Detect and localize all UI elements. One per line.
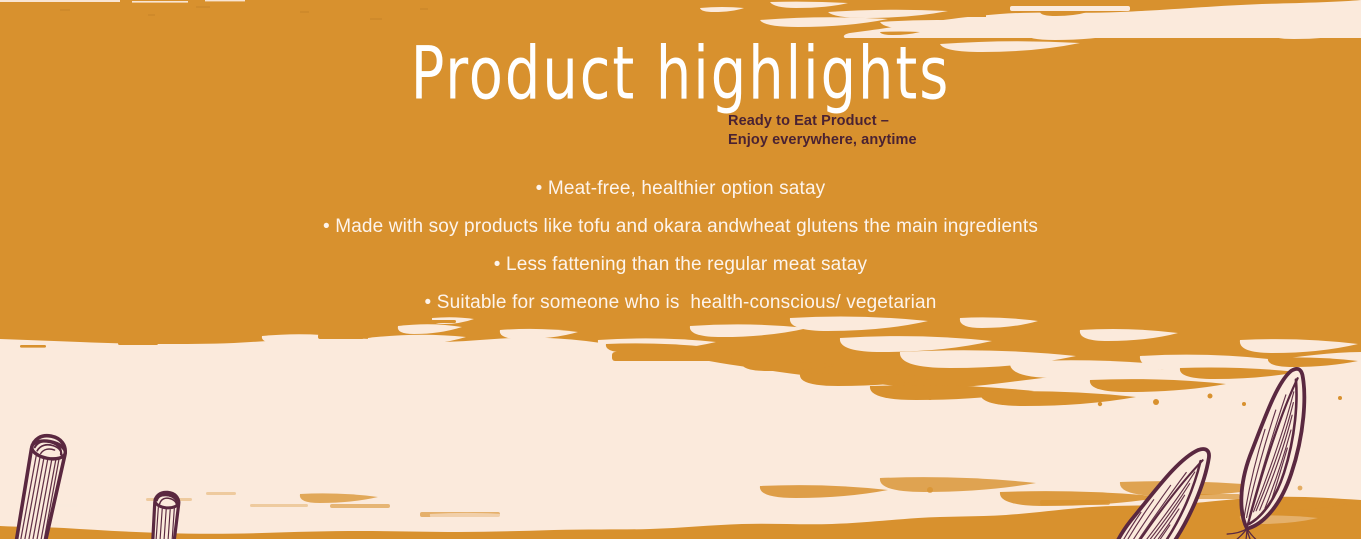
subtitle-text: Ready to Eat Product – Enjoy everywhere,… xyxy=(728,112,917,149)
list-item: • Suitable for someone who is health-con… xyxy=(0,284,1361,322)
page-title: Product highlights xyxy=(0,30,1361,117)
list-item: • Less fattening than the regular meat s… xyxy=(0,246,1361,284)
list-item: • Meat-free, healthier option satay xyxy=(0,170,1361,208)
slide-canvas: Product highlights Ready to Eat Product … xyxy=(0,0,1361,539)
page-title-text: Product highlights xyxy=(411,30,951,117)
list-item: • Made with soy products like tofu and o… xyxy=(0,208,1361,246)
highlights-list: • Meat-free, healthier option satay • Ma… xyxy=(0,170,1361,322)
